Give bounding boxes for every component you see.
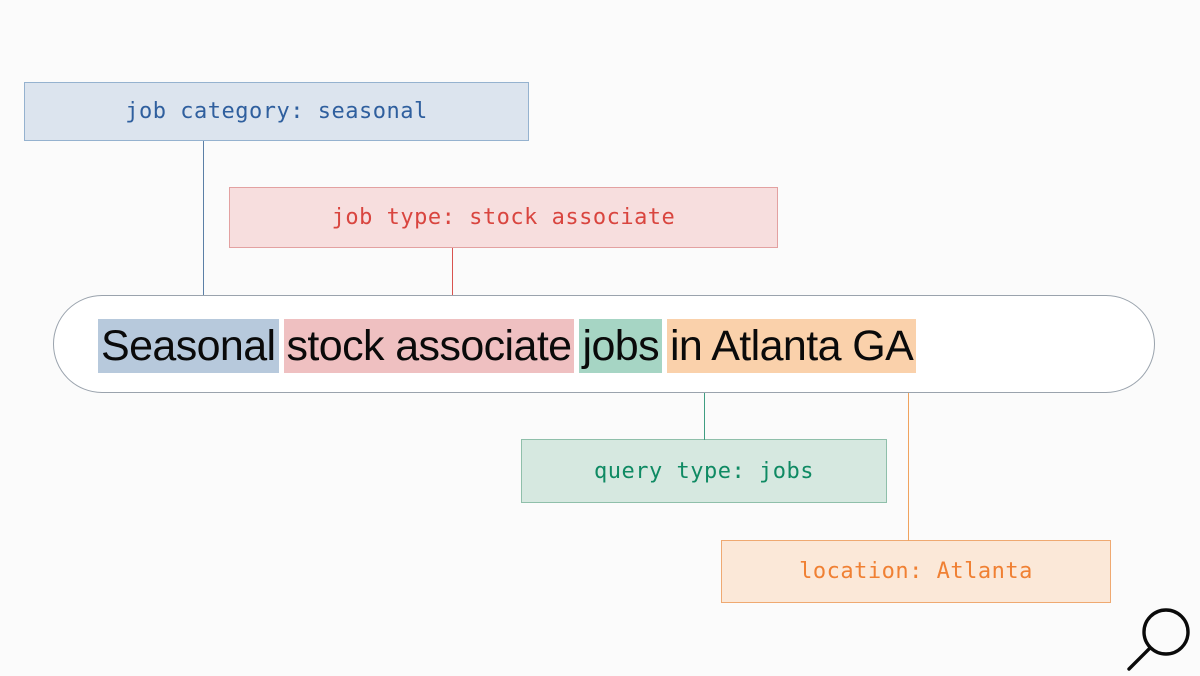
annotation-job-category-label: job category: seasonal [125, 99, 427, 124]
query-token-job-category[interactable]: Seasonal [98, 319, 279, 373]
annotation-location: location: Atlanta [721, 540, 1111, 603]
annotation-job-type: job type: stock associate [229, 187, 778, 248]
annotation-query-type: query type: jobs [521, 439, 887, 503]
search-icon[interactable] [1122, 606, 1196, 676]
annotation-query-type-label: query type: jobs [594, 459, 814, 484]
query-token-query-type[interactable]: jobs [579, 319, 661, 373]
annotation-location-label: location: Atlanta [799, 559, 1033, 584]
search-bar[interactable]: Seasonal stock associate jobs in Atlanta… [53, 295, 1155, 393]
annotation-job-type-label: job type: stock associate [332, 205, 676, 230]
diagram-canvas: job category: seasonal job type: stock a… [0, 0, 1200, 675]
search-input[interactable]: Seasonal stock associate jobs in Atlanta… [98, 319, 916, 373]
query-token-job-type[interactable]: stock associate [284, 319, 575, 373]
query-token-location[interactable]: in Atlanta GA [667, 319, 916, 373]
annotation-job-category: job category: seasonal [24, 82, 529, 141]
connector-line-location [908, 372, 909, 541]
